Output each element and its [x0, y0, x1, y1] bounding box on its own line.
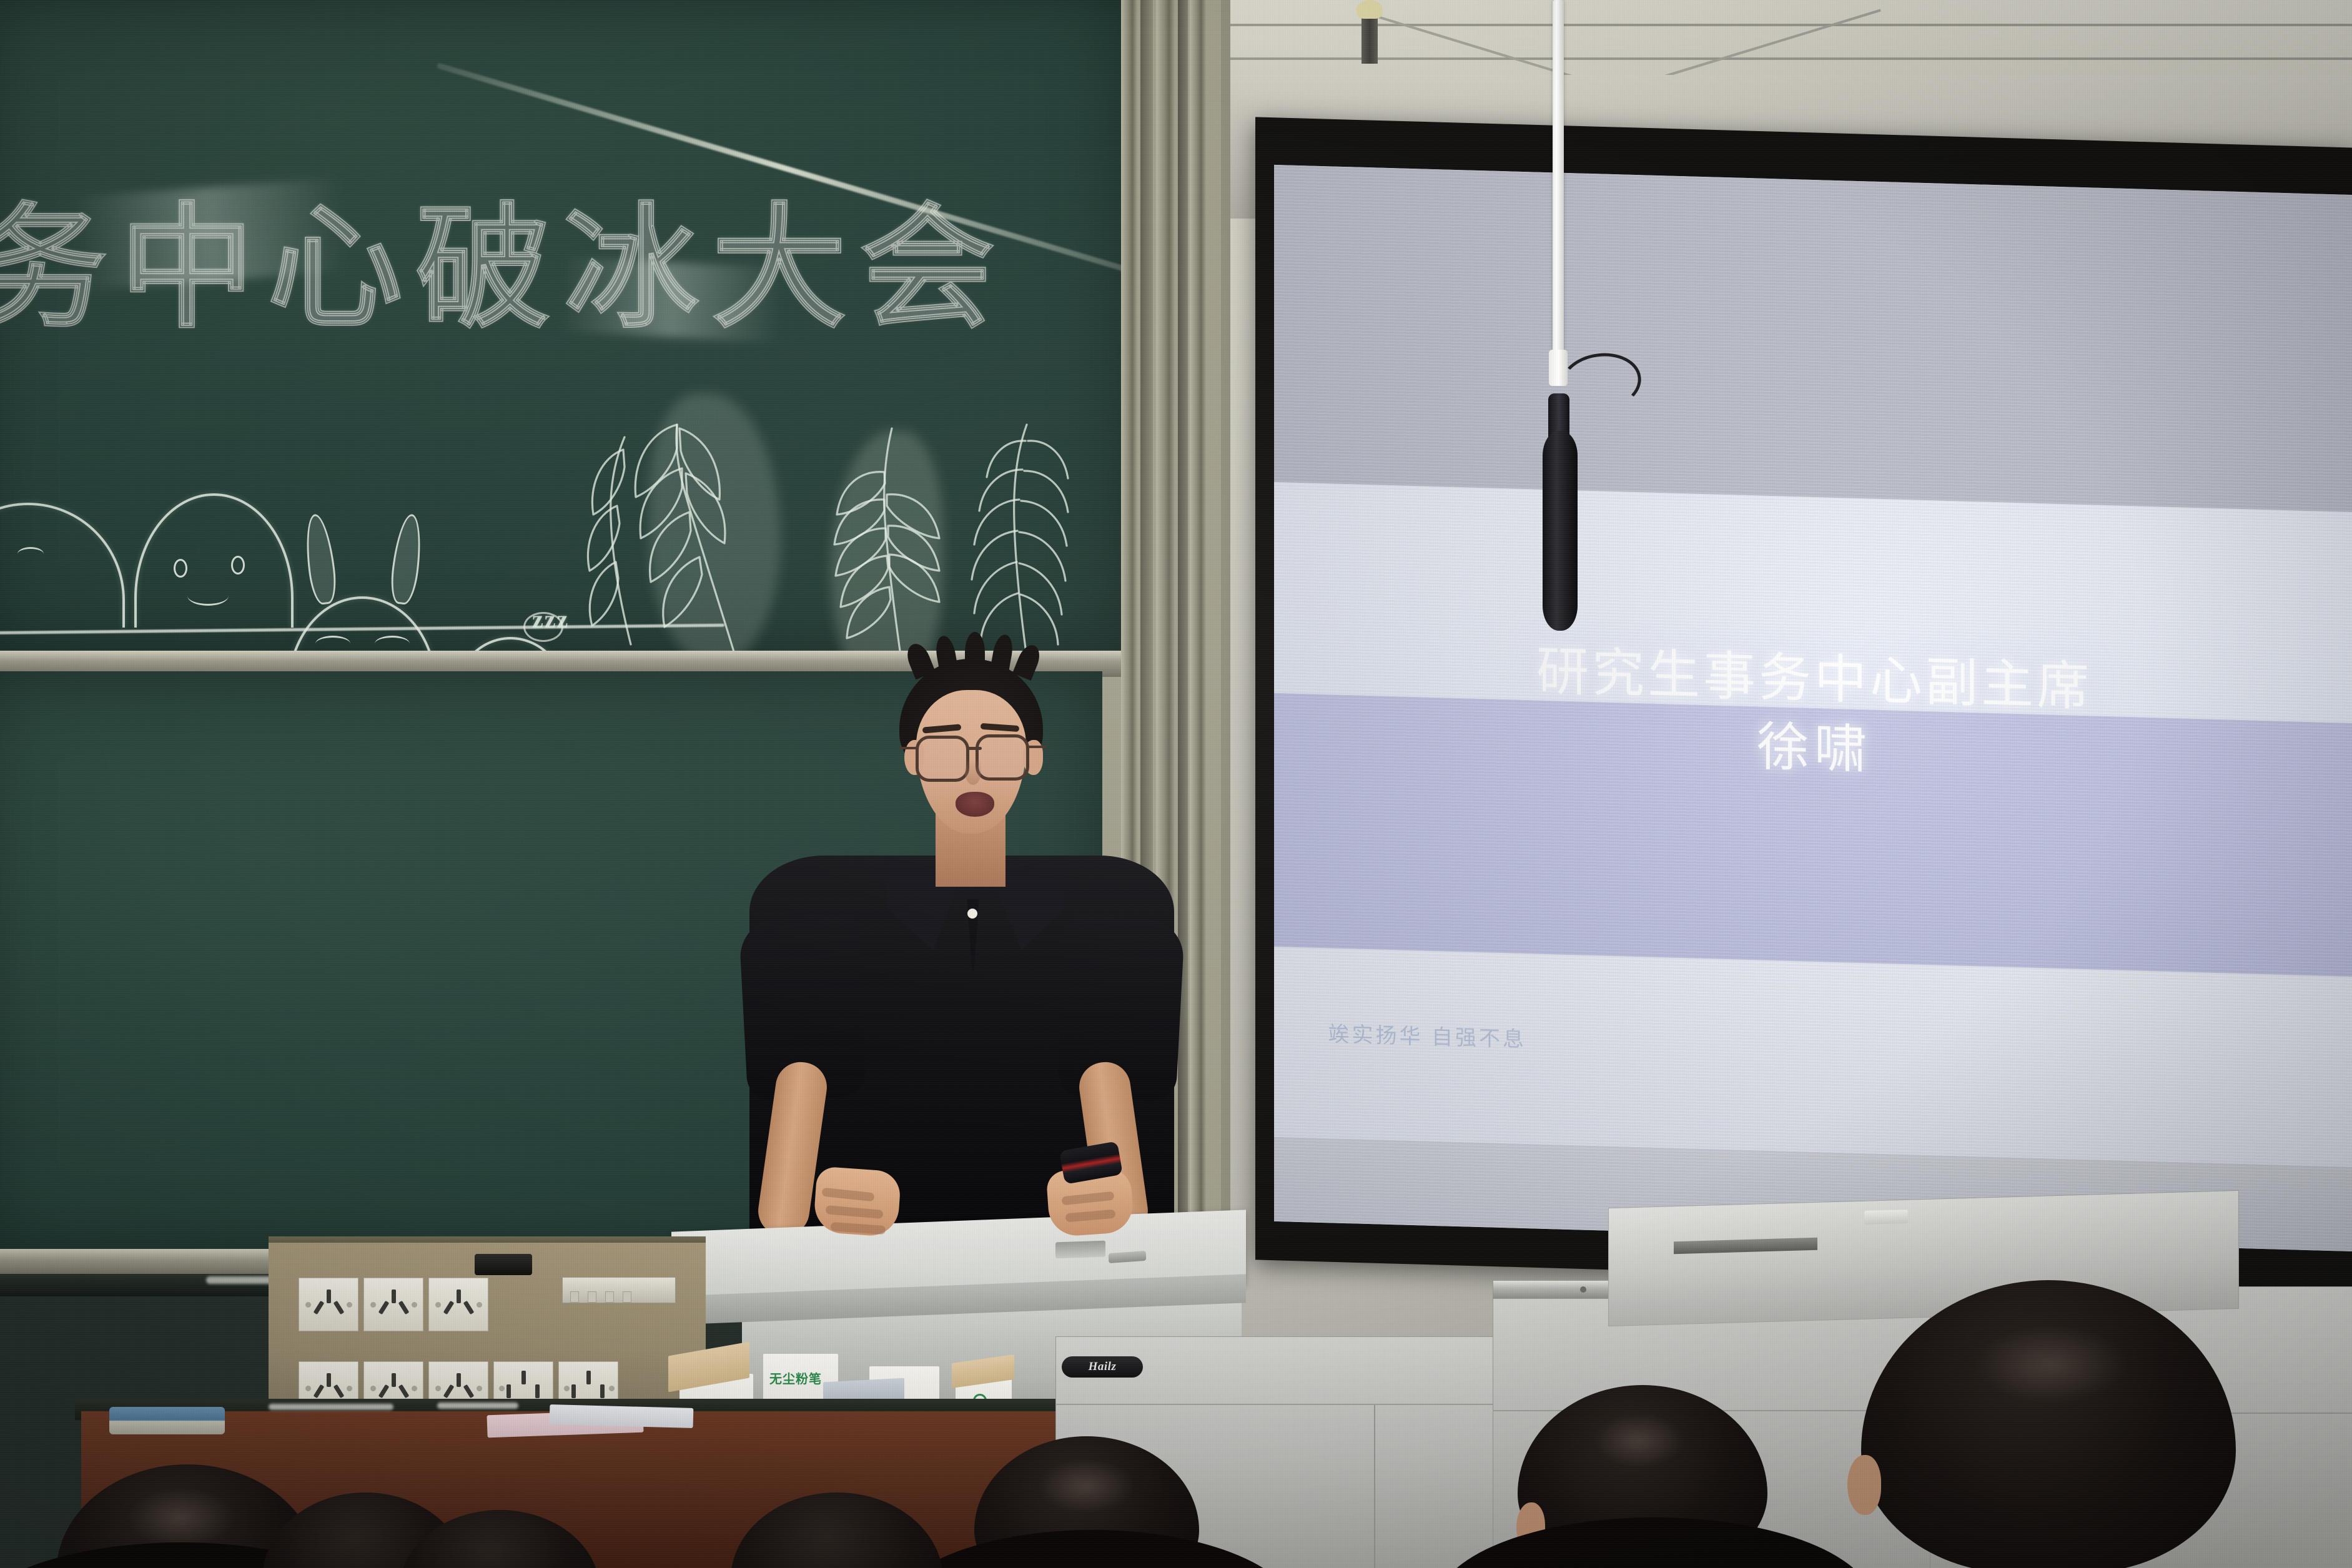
chalk-dust: [437, 1403, 518, 1409]
paper-stack-white: [550, 1404, 694, 1428]
cabinet-brand-text: Hailz: [1089, 1360, 1117, 1374]
cabinet-drawer-line: [1055, 1404, 1518, 1405]
wall-switch-box[interactable]: [475, 1254, 532, 1275]
lectern-card-slot: [1055, 1241, 1105, 1259]
slide-footer-motto: 竢实扬华 自强不息: [1328, 1017, 1526, 1053]
chalk-palm-frond: [931, 412, 1118, 687]
ceiling-grid-line: [1174, 24, 2352, 26]
power-outlet[interactable]: [428, 1278, 488, 1331]
chalk-leaf-accent: [543, 412, 706, 649]
chalk-blob-eye: [174, 559, 187, 578]
microphone-icon: [1543, 431, 1578, 631]
cabinet-brand-badge: Hailz: [1062, 1356, 1143, 1378]
hair-highlight: [1593, 1413, 1686, 1469]
power-outlet[interactable]: [363, 1278, 423, 1331]
classroom-scene: 务中心破冰大会 zzz: [0, 0, 2352, 1568]
hair-highlight: [1974, 1324, 2130, 1405]
hair-highlight: [1037, 1458, 1137, 1514]
cabinet-door-seam: [1374, 1405, 1375, 1568]
chalk-blob-eye: [231, 556, 245, 574]
chalk-dust: [269, 1404, 393, 1410]
eyeglasses-bridge: [968, 747, 982, 750]
power-outlet[interactable]: [299, 1278, 358, 1331]
shirt-button: [967, 909, 977, 919]
blackboard-track: [1190, 0, 1206, 1286]
circuit-breaker[interactable]: [562, 1277, 676, 1303]
chalk-blob-smile: [187, 586, 229, 606]
cabinet-rail-screw: [1580, 1286, 1586, 1293]
chalk-blob-eye: [375, 636, 410, 652]
slide-band-white-lower: [1274, 947, 2352, 1167]
blackboard-eraser[interactable]: [109, 1407, 225, 1434]
ceiling-drop-pole: [1553, 0, 1564, 361]
hair-highlight: [125, 1486, 237, 1549]
chalk-blob-eye: [315, 636, 350, 652]
sprinkler-icon: [1356, 0, 1383, 19]
ceiling-grid-line: [1174, 57, 2352, 60]
chalk-smudge: [560, 257, 783, 343]
chalk-smudge: [72, 178, 346, 290]
audience-ear: [1847, 1455, 1881, 1515]
eyeglasses-temple-left: [899, 747, 918, 749]
eyeglasses-temple-right: [1028, 746, 1047, 748]
eyeglasses-lens-right: [976, 734, 1029, 781]
slide-band-top-gray: [1274, 165, 2352, 512]
presenter-nose: [965, 759, 981, 785]
chalk-blob-eye: [17, 547, 44, 561]
presenter-mouth: [956, 792, 994, 817]
sprinkler-stem: [1361, 11, 1378, 64]
projection-screen[interactable]: 研究生事务中心副主席 徐啸 竢实扬华 自强不息: [1274, 165, 2352, 1251]
chalk-box-label: 无尘粉笔: [769, 1369, 822, 1387]
blackboard-track: [1178, 0, 1188, 1286]
projector-top-nub: [1864, 1210, 1908, 1225]
eyeglasses-lens-left: [916, 736, 969, 782]
